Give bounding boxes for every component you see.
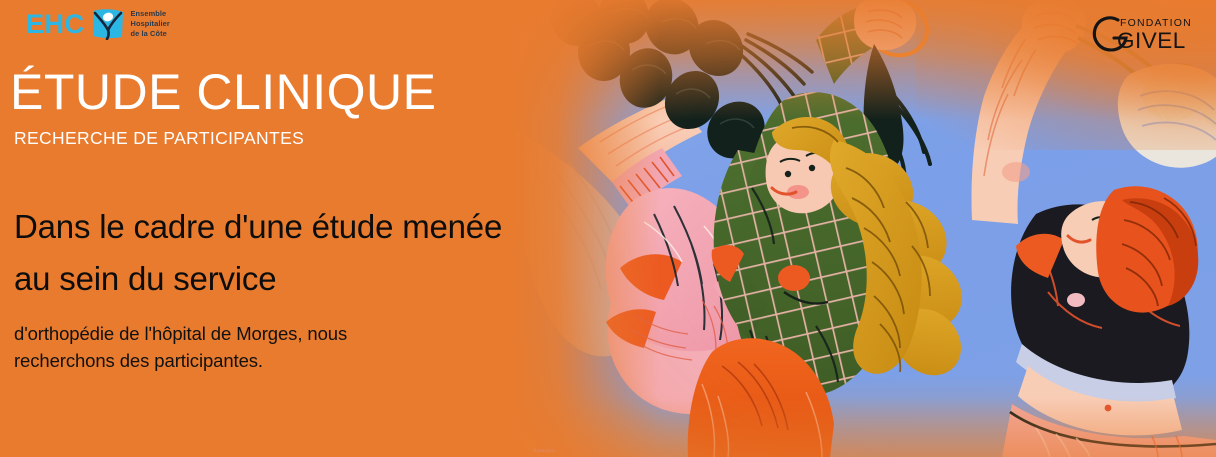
watermark-text: illustration <box>533 448 556 453</box>
ehc-tagline-line-2: Hospitalier <box>131 19 170 28</box>
givel-logo: FONDATION GIVEL <box>1090 10 1200 54</box>
givel-main-text: GIVEL <box>1117 28 1186 53</box>
ehc-tagline-line-3: de la Côte <box>131 29 167 38</box>
page-title: ÉTUDE CLINIQUE <box>10 66 530 118</box>
ehc-figure-icon <box>91 8 125 40</box>
copy-block: ÉTUDE CLINIQUE RECHERCHE DE PARTICIPANTE… <box>10 66 530 374</box>
ehc-tagline: Ensemble Hospitalier de la Côte <box>131 9 170 40</box>
ehc-tagline-line-1: Ensemble <box>131 9 167 18</box>
ehc-wordmark: EHC <box>26 11 85 38</box>
lead-paragraph: Dans le cadre d'une étude menée au sein … <box>14 201 530 305</box>
ehc-logo: EHC Ensemble Hospitalier de la Côte <box>26 8 170 40</box>
poster-canvas: EHC Ensemble Hospitalier de la Côte FOND… <box>0 0 1216 457</box>
pale-cloth-top-right <box>1118 64 1216 168</box>
illustration-artwork <box>516 0 1216 457</box>
body-paragraph: d'orthopédie de l'hôpital de Morges, nou… <box>14 321 444 374</box>
page-subtitle: RECHERCHE DE PARTICIPANTES <box>14 128 530 149</box>
